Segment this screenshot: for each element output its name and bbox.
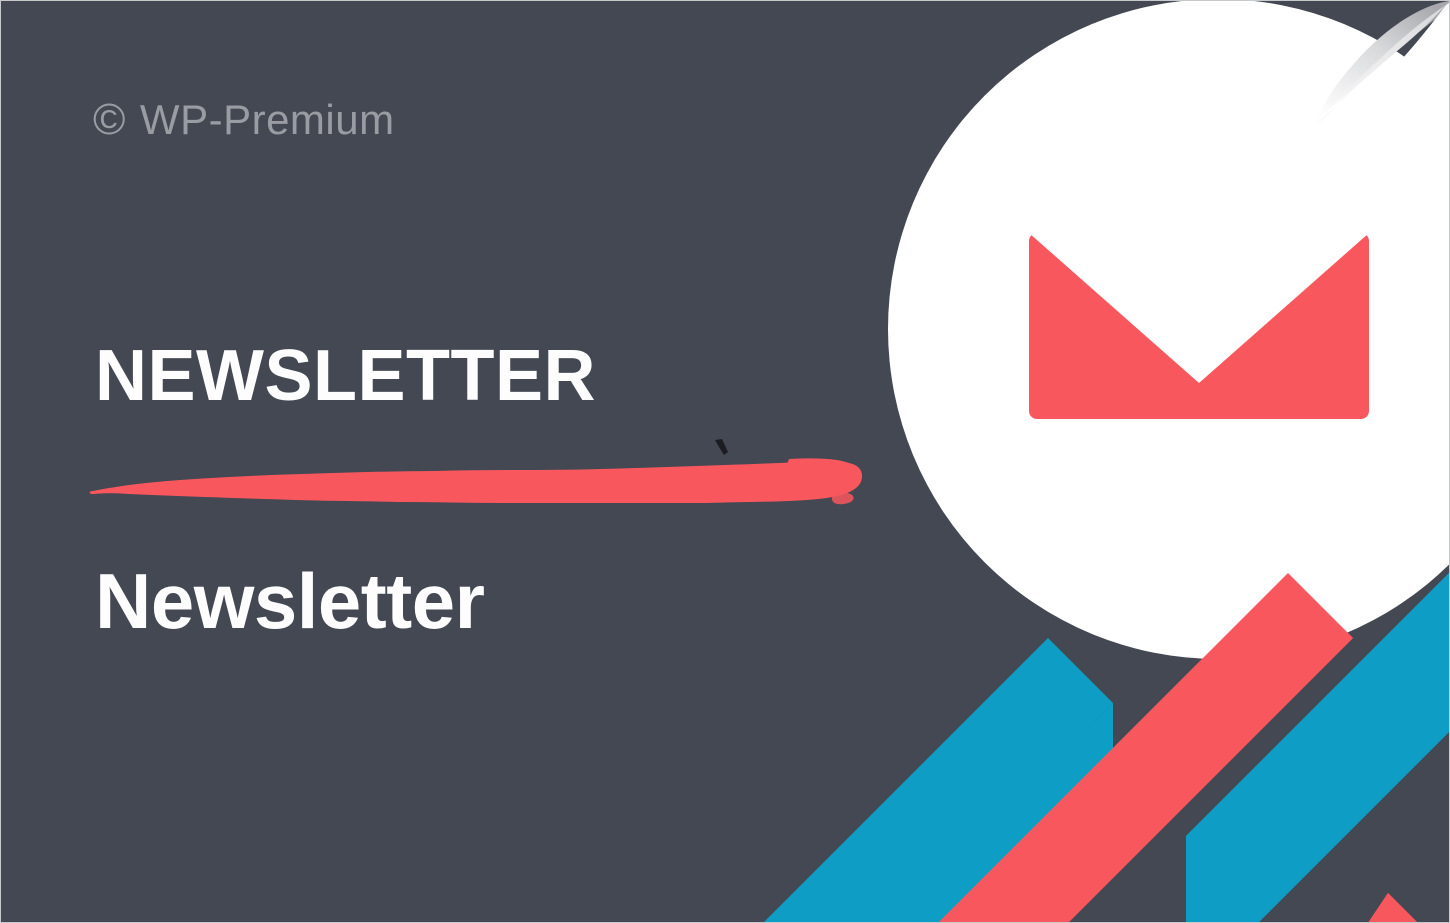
ink-fleck [714,438,734,458]
diagonal-bar-red-2 [1250,893,1450,923]
copyright-text: WP-Premium [140,99,395,141]
diagonal-bar-blue-1b [713,703,1113,923]
envelope-icon [1029,233,1369,419]
copyright-watermark: © WP-Premium [93,98,395,142]
diagonal-bar-blue-1 [668,638,1113,923]
copyright-icon: © [93,98,126,142]
diagonal-bar-red-2-front [1250,893,1450,923]
page-title-uppercase: NEWSLETTER [95,340,596,412]
page-curl [1317,1,1449,125]
page-title-lowercase: Newsletter [95,562,485,640]
newsletter-banner: © WP-Premium NEWSLETTER Newsletter [0,0,1450,923]
brush-stroke-underline [89,429,869,521]
